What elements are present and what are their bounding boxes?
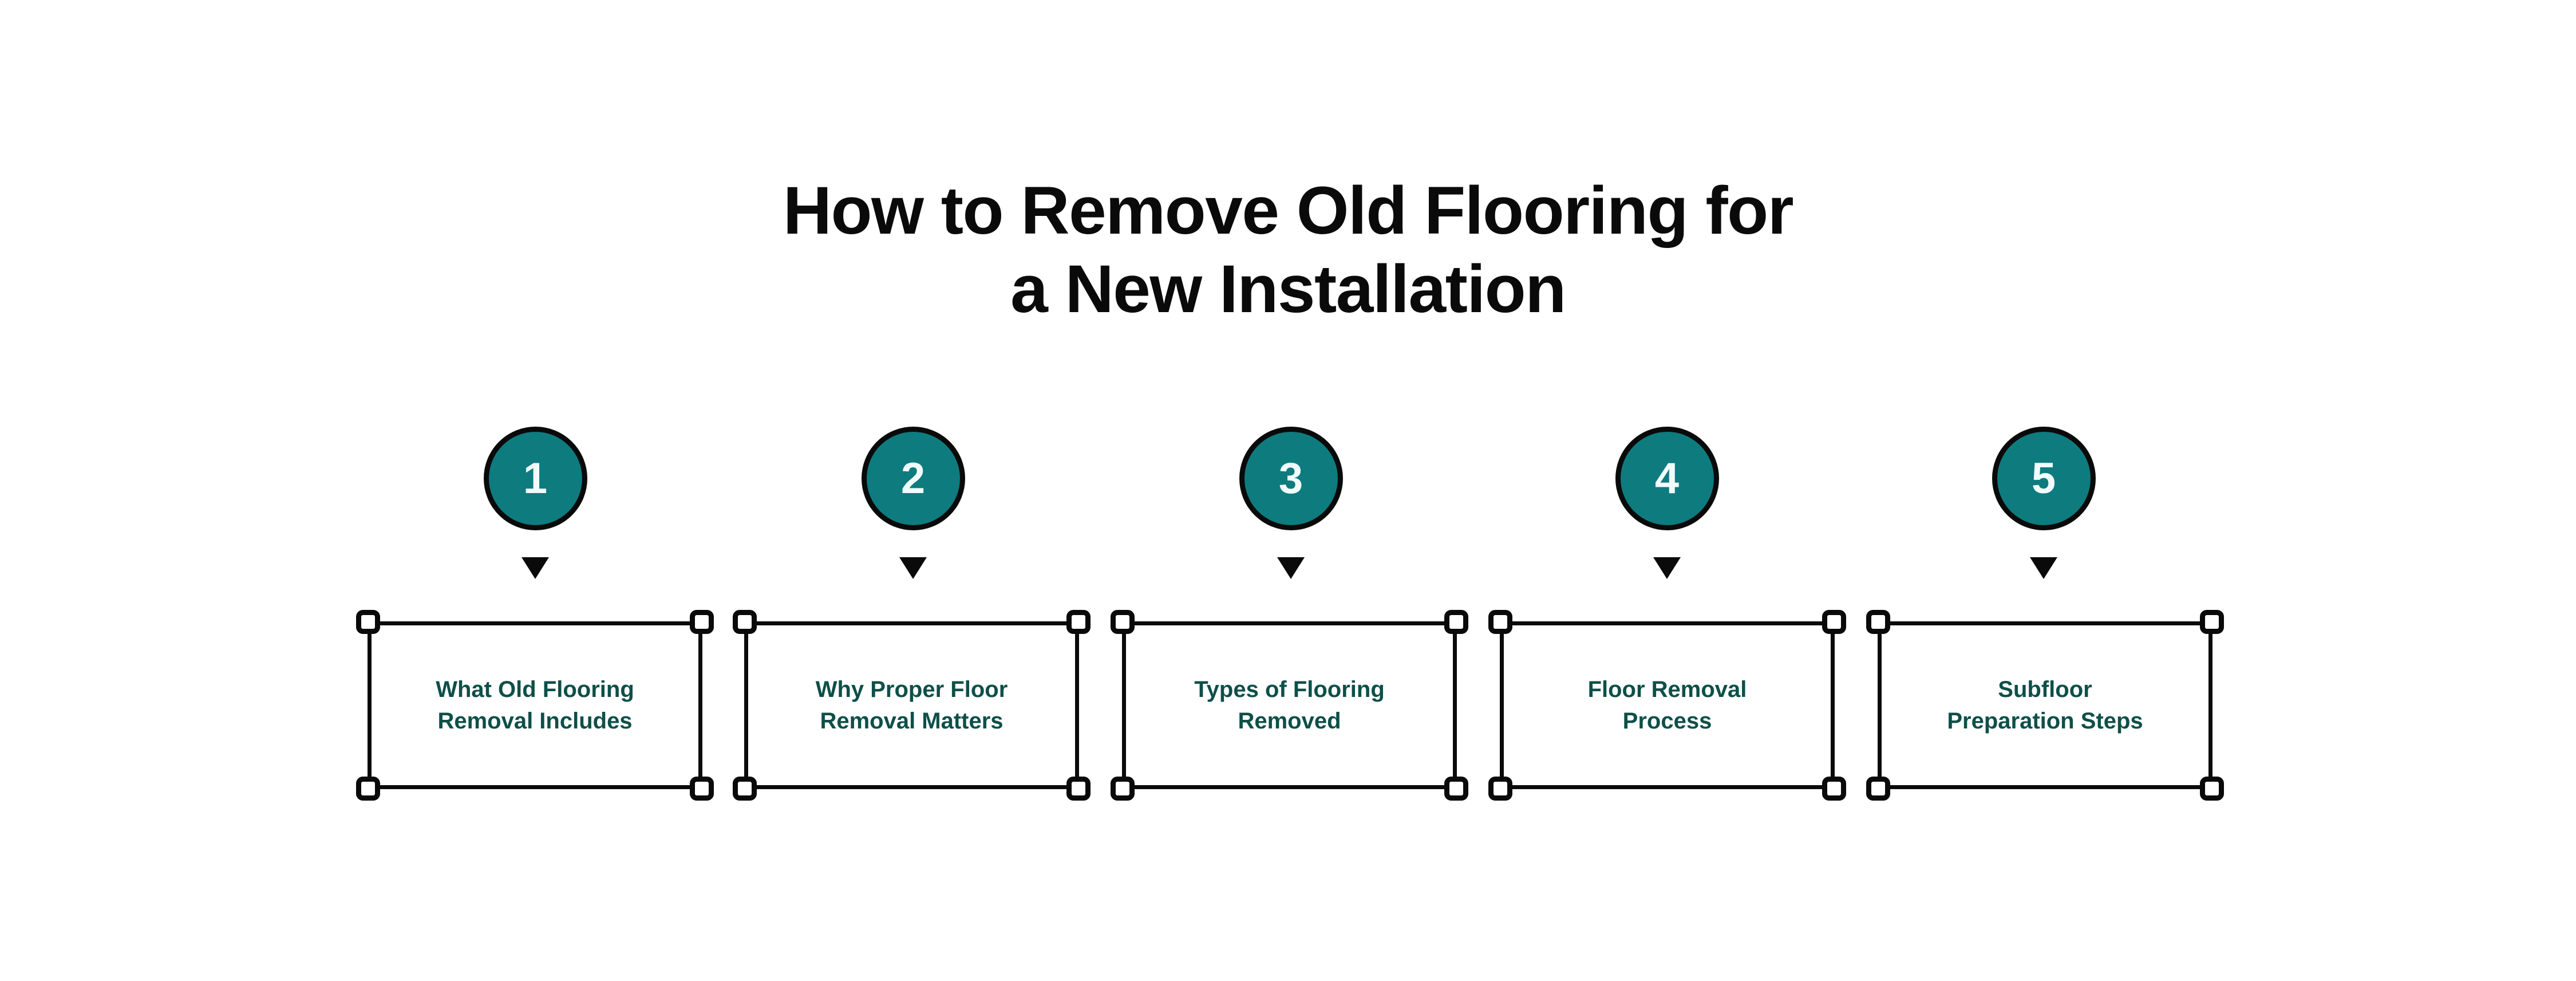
- step-4-number-circle[interactable]: 4: [1615, 427, 1719, 530]
- step-4-resize-handle-bottom-left[interactable]: [1488, 777, 1512, 801]
- step-3-text-box[interactable]: Types of Flooring Removed: [1122, 621, 1457, 789]
- step-3-marker: 3: [1102, 427, 1480, 570]
- steps-row: 1 2 3: [0, 0, 2576, 981]
- step-1-resize-handle-bottom-left[interactable]: [356, 777, 380, 801]
- step-3-resize-handle-bottom-right[interactable]: [1444, 777, 1468, 801]
- step-4-resize-handle-top-left[interactable]: [1488, 610, 1512, 634]
- infographic-canvas: How to Remove Old Flooring for a New Ins…: [0, 0, 2576, 981]
- step-5-marker: 5: [1855, 427, 2233, 570]
- step-4-resize-handle-top-right[interactable]: [1822, 610, 1846, 634]
- step-4-number-label: 4: [1621, 432, 1714, 525]
- step-2-resize-handle-bottom-left[interactable]: [733, 777, 757, 801]
- step-2-number-label: 2: [867, 432, 960, 525]
- step-4: 4: [1478, 0, 1856, 981]
- step-2-text-box[interactable]: Why Proper Floor Removal Matters: [744, 621, 1079, 789]
- step-2-resize-handle-top-left[interactable]: [733, 610, 757, 634]
- step-2-resize-handle-top-right[interactable]: [1066, 610, 1091, 634]
- step-4-pointer-triangle-icon: [1653, 557, 1681, 579]
- step-1-resize-handle-bottom-right[interactable]: [690, 777, 714, 801]
- step-2-number-circle[interactable]: 2: [862, 427, 965, 530]
- step-2-pointer-triangle-icon: [899, 557, 927, 579]
- step-1-text-box[interactable]: What Old Flooring Removal Includes: [368, 621, 702, 789]
- step-5-number-label: 5: [1997, 432, 2091, 525]
- step-3-resize-handle-bottom-left[interactable]: [1111, 777, 1135, 801]
- step-5-number-circle[interactable]: 5: [1992, 427, 2096, 530]
- step-1-marker: 1: [346, 427, 724, 570]
- step-3-resize-handle-top-left[interactable]: [1111, 610, 1135, 634]
- step-5-resize-handle-bottom-right[interactable]: [2200, 777, 2224, 801]
- step-2: 2: [724, 0, 1102, 981]
- step-3-number-label: 3: [1244, 432, 1338, 525]
- step-4-marker: 4: [1478, 427, 1856, 570]
- step-3-label: Types of Flooring Removed: [1126, 673, 1453, 736]
- step-4-label: Floor Removal Process: [1504, 673, 1831, 736]
- step-1-resize-handle-top-right[interactable]: [690, 610, 714, 634]
- step-3: 3: [1102, 0, 1480, 981]
- step-4-text-box[interactable]: Floor Removal Process: [1500, 621, 1835, 789]
- step-2-resize-handle-bottom-right[interactable]: [1066, 777, 1091, 801]
- step-5-resize-handle-top-right[interactable]: [2200, 610, 2224, 634]
- step-1-resize-handle-top-left[interactable]: [356, 610, 380, 634]
- step-5: 5: [1855, 0, 2233, 981]
- step-5-resize-handle-top-left[interactable]: [1866, 610, 1890, 634]
- step-3-resize-handle-top-right[interactable]: [1444, 610, 1468, 634]
- step-2-marker: 2: [724, 427, 1102, 570]
- step-1-label: What Old Flooring Removal Includes: [372, 673, 698, 736]
- step-1-number-label: 1: [489, 432, 582, 525]
- step-1-number-circle[interactable]: 1: [484, 427, 587, 530]
- step-5-text-box[interactable]: Subfloor Preparation Steps: [1878, 621, 2212, 789]
- step-5-pointer-triangle-icon: [2030, 557, 2057, 579]
- step-4-resize-handle-bottom-right[interactable]: [1822, 777, 1846, 801]
- step-1: 1: [346, 0, 724, 981]
- step-5-label: Subfloor Preparation Steps: [1882, 673, 2208, 736]
- step-3-number-circle[interactable]: 3: [1239, 427, 1343, 530]
- step-1-pointer-triangle-icon: [521, 557, 549, 579]
- step-2-label: Why Proper Floor Removal Matters: [748, 673, 1075, 736]
- step-5-resize-handle-bottom-left[interactable]: [1866, 777, 1890, 801]
- step-3-pointer-triangle-icon: [1277, 557, 1305, 579]
